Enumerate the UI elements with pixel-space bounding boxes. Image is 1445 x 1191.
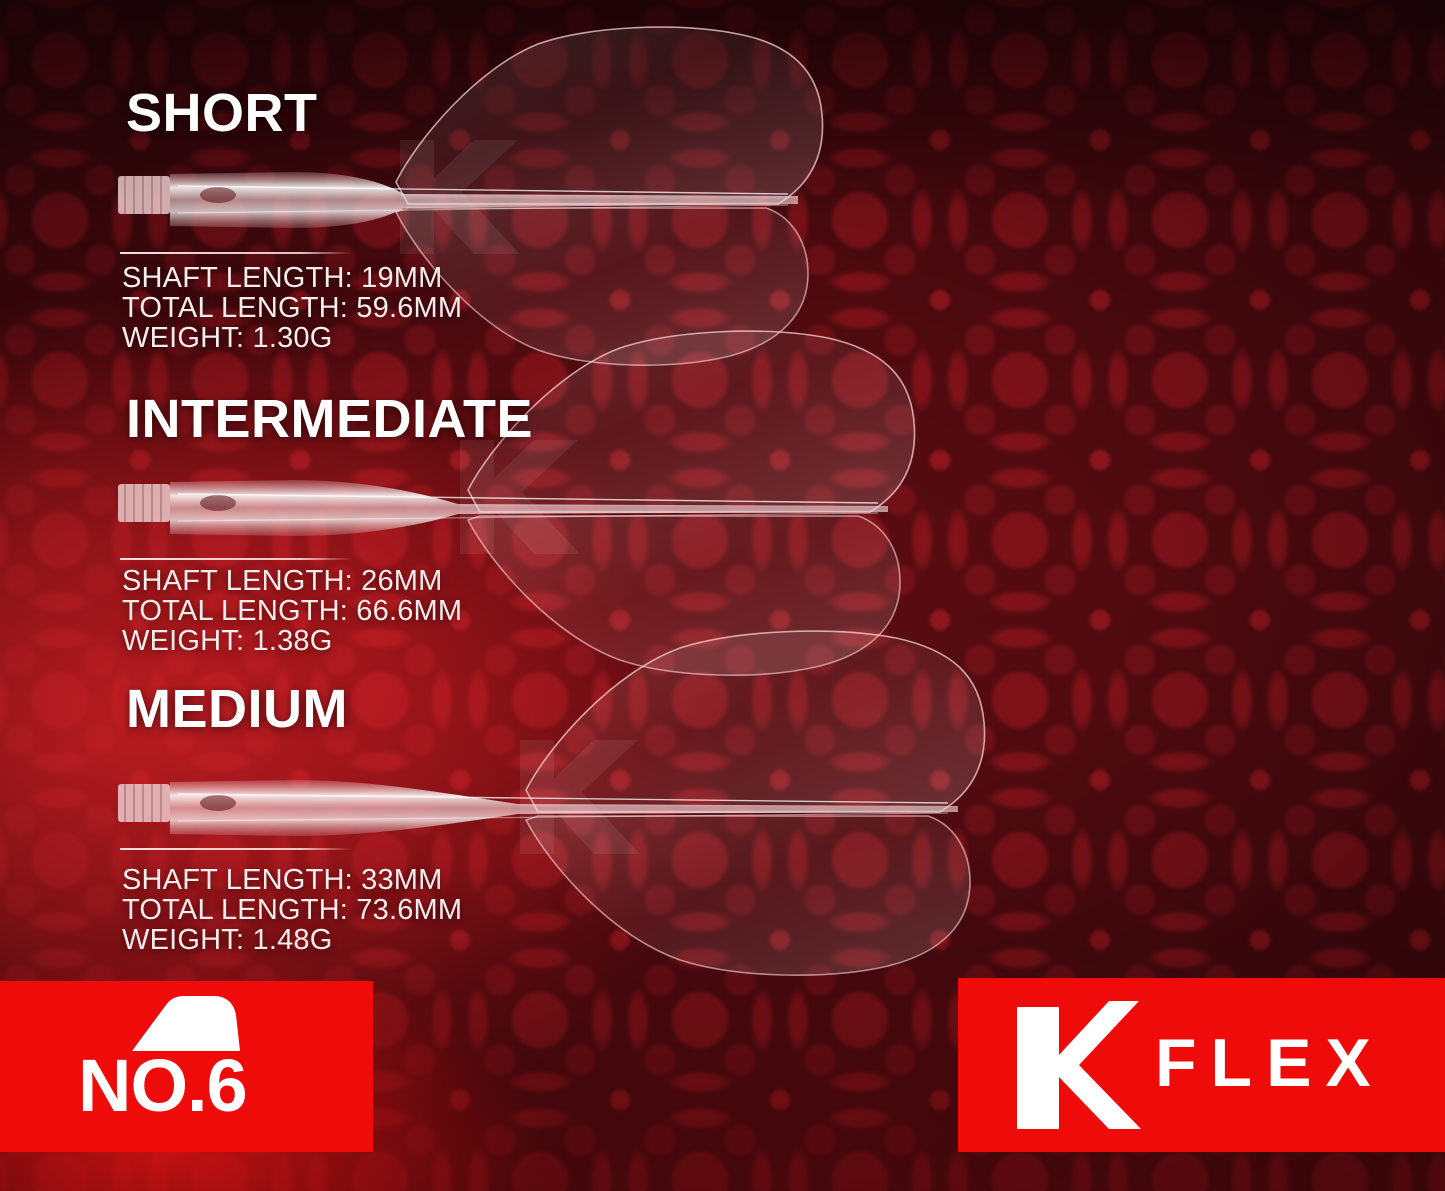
divider-short [120, 252, 352, 254]
kflex-label: FLEX [1155, 1029, 1385, 1101]
spec-shaft-length-intermediate: SHAFT LENGTH: 26MM [122, 566, 462, 596]
flight-upper-wing [526, 631, 985, 812]
shaft-thread [118, 484, 170, 522]
no6-badge: NO.6 [0, 981, 373, 1152]
spec-weight-medium: WEIGHT: 1.48G [122, 925, 462, 955]
shaft-thread [118, 784, 170, 822]
divider-intermediate [120, 558, 352, 560]
shaft-aperture [200, 795, 236, 811]
spec-shaft-length-short: SHAFT LENGTH: 19MM [122, 263, 462, 293]
heading-medium: MEDIUM [126, 682, 348, 736]
spec-total-length-short: TOTAL LENGTH: 59.6MM [122, 293, 462, 323]
specs-medium: SHAFT LENGTH: 33MM TOTAL LENGTH: 73.6MM … [122, 865, 462, 955]
heading-intermediate: INTERMEDIATE [126, 392, 533, 446]
flight-lower-wing [526, 816, 970, 975]
spec-total-length-medium: TOTAL LENGTH: 73.6MM [122, 895, 462, 925]
flight-upper-wing [396, 27, 823, 204]
divider-medium [120, 848, 352, 850]
no6-label: NO.6 [78, 1049, 247, 1123]
kflex-badge: FLEX [958, 978, 1445, 1152]
kflex-badge-content: FLEX [1013, 992, 1385, 1138]
shaft-thread [118, 176, 170, 214]
k-logo-icon [1013, 997, 1141, 1133]
shaft-aperture [200, 495, 236, 511]
spec-shaft-length-medium: SHAFT LENGTH: 33MM [122, 865, 462, 895]
no6-badge-content: NO.6 [78, 995, 328, 1140]
heading-short: SHORT [126, 86, 318, 140]
flight-upper-wing [468, 331, 915, 512]
infographic-canvas: SHORT SHAFT LENGTH: 19MM TOTAL LENGTH: 5… [0, 0, 1445, 1191]
shaft-aperture [200, 187, 236, 203]
